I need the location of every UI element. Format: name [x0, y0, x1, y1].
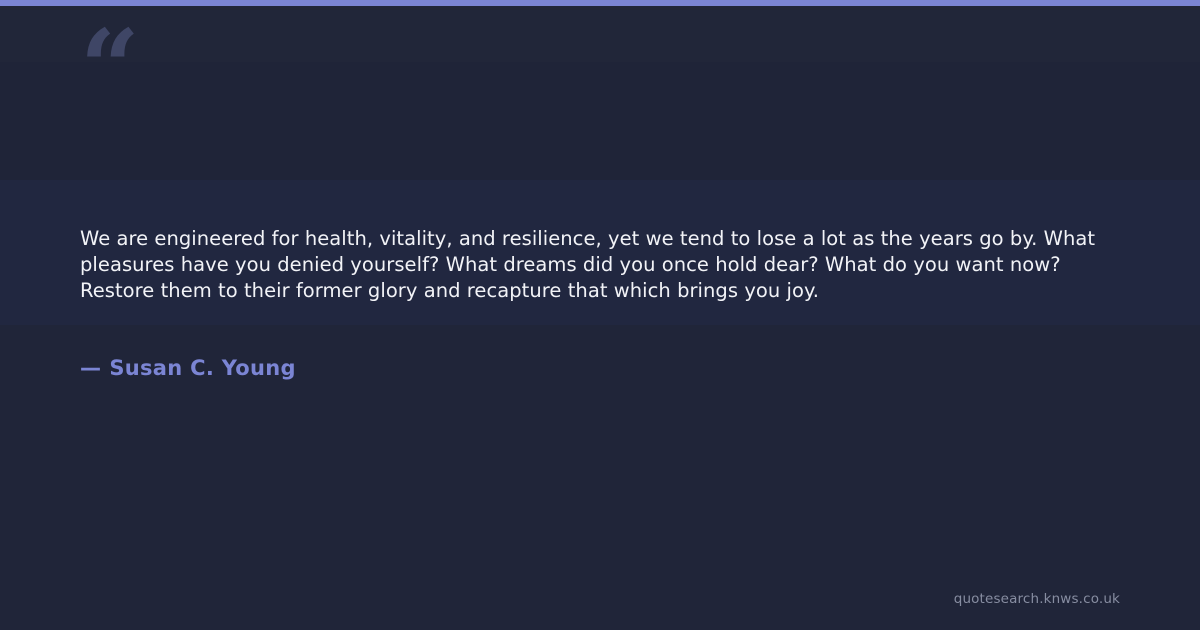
site-watermark: quotesearch.knws.co.uk [954, 590, 1120, 608]
quote-attribution: —Susan C. Young [80, 354, 296, 382]
quotation-mark-icon: “ [80, 16, 138, 120]
quote-text: We are engineered for health, vitality, … [80, 226, 1130, 304]
attribution-dash: — [80, 354, 101, 382]
card-content: “ We are engineered for health, vitality… [0, 0, 1200, 630]
quote-card: “ We are engineered for health, vitality… [0, 0, 1200, 630]
author-name: Susan C. Young [109, 356, 296, 380]
